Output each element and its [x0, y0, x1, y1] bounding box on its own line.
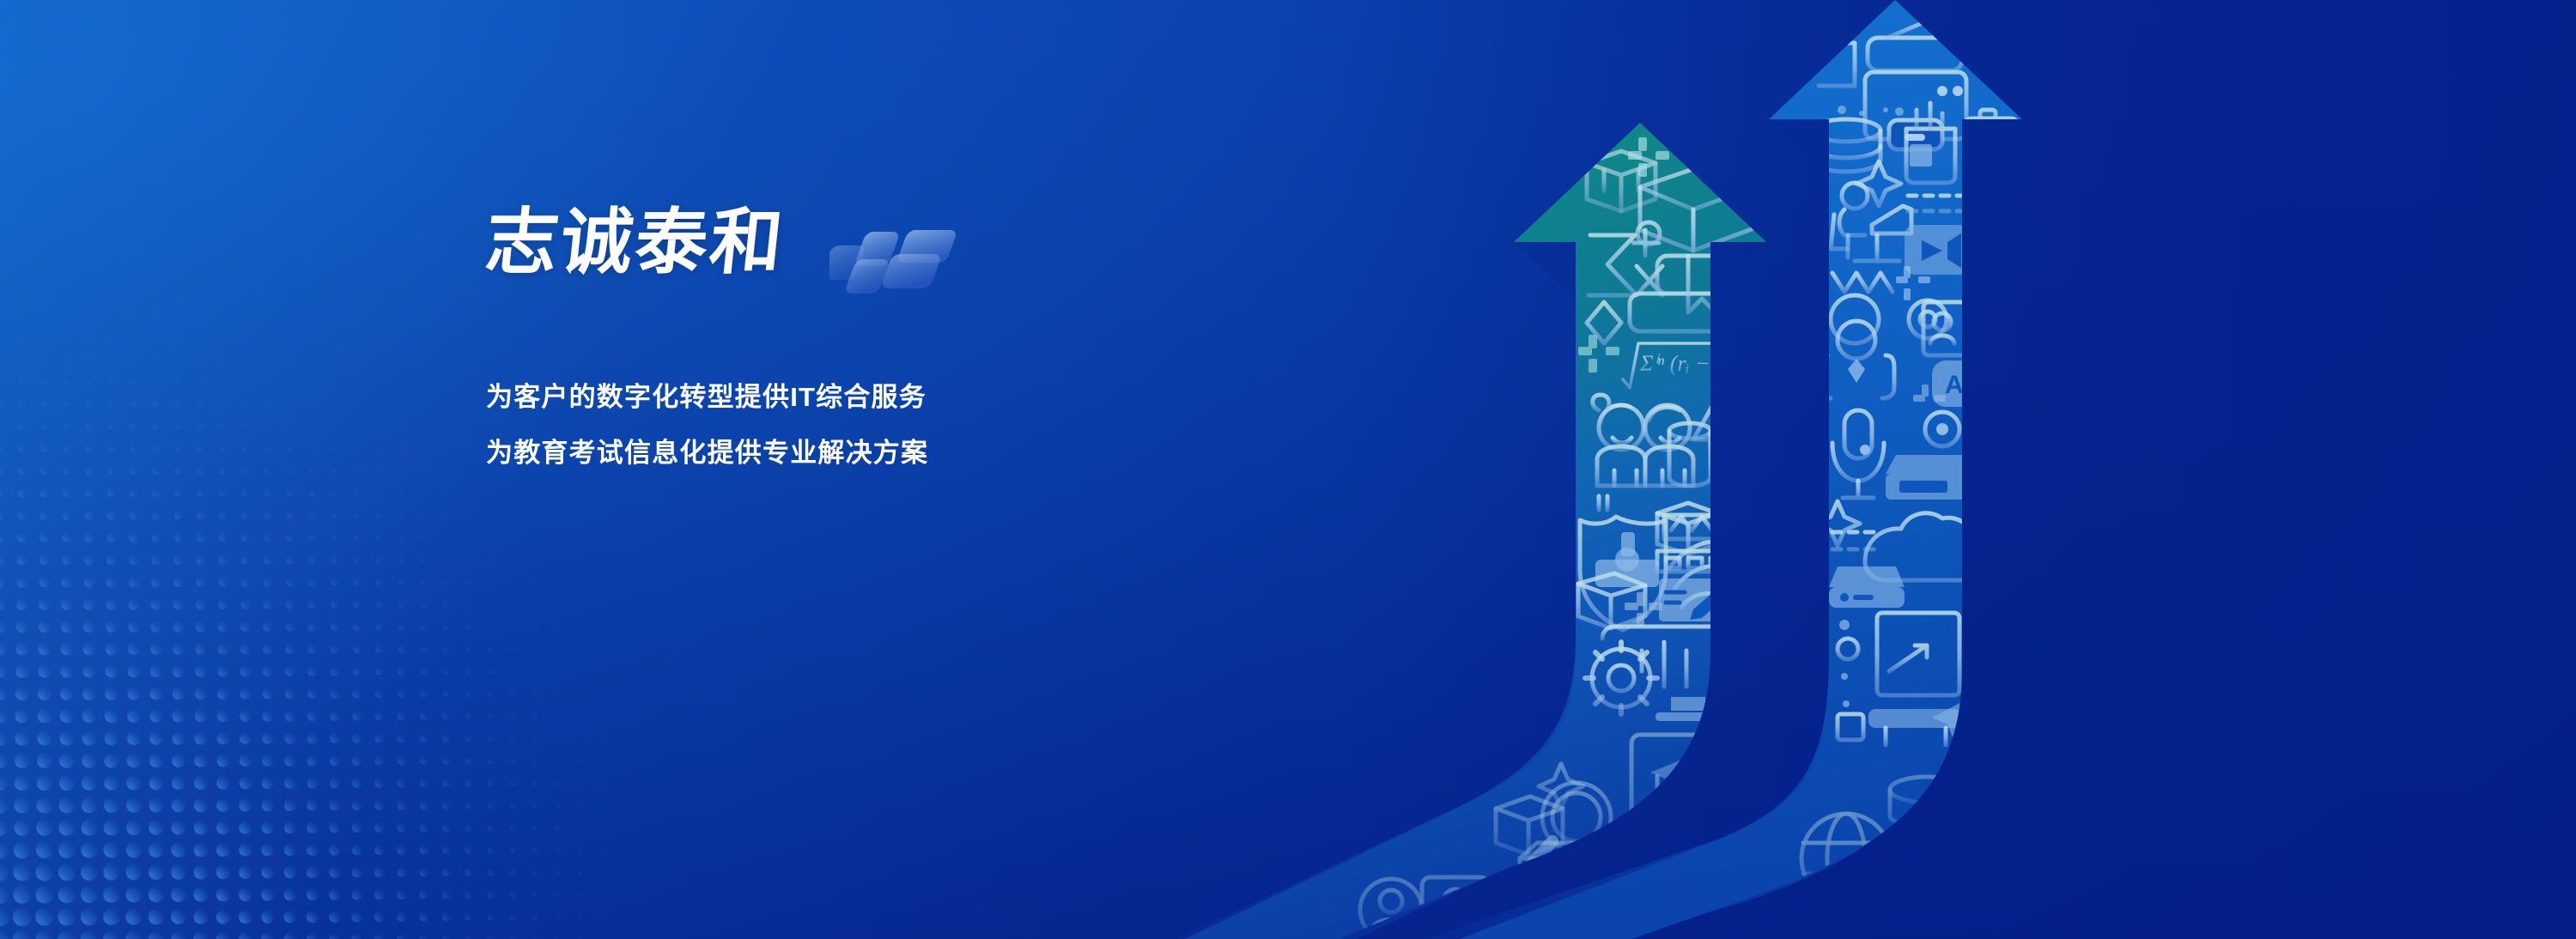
hero-text-block: 志诚泰和 — [486, 199, 1139, 481]
scanner-icon — [1829, 566, 1905, 608]
server-icon — [1886, 455, 1975, 500]
brand-row: 志诚泰和 — [486, 199, 1139, 302]
folder-icon — [1803, 898, 1920, 939]
education-arrow: Σⁱⁿ (rᵢ − r̅)²/ₙ — [1176, 123, 1769, 939]
svg-text:Σⁱⁿ (rᵢ − r̅)²/ₙ: Σⁱⁿ (rᵢ − r̅)²/ₙ — [1639, 351, 1754, 376]
video-player-icon — [1905, 225, 1970, 275]
page-title: 志诚泰和 — [482, 199, 790, 285]
presentation-chart-icon — [1917, 815, 1971, 894]
parallelogram-logo-mark — [829, 220, 1001, 294]
ai-badge-icon: AI — [1932, 360, 1985, 407]
arrow-graphics: AI — [0, 0, 2576, 939]
tagline-group: 为客户的数字化转型提供IT综合服务 为教育考试信息化提供专业解决方案 — [486, 369, 1139, 481]
heart-icon — [1950, 904, 1999, 939]
svg-text:AI: AI — [1945, 371, 1971, 399]
tagline-line-2: 为教育考试信息化提供专业解决方案 — [486, 425, 1139, 481]
tagline-line-1: 为客户的数字化转型提供IT综合服务 — [486, 369, 1139, 425]
pencil-edit-icon — [1659, 579, 1733, 627]
hero-banner: AI — [0, 0, 2576, 939]
